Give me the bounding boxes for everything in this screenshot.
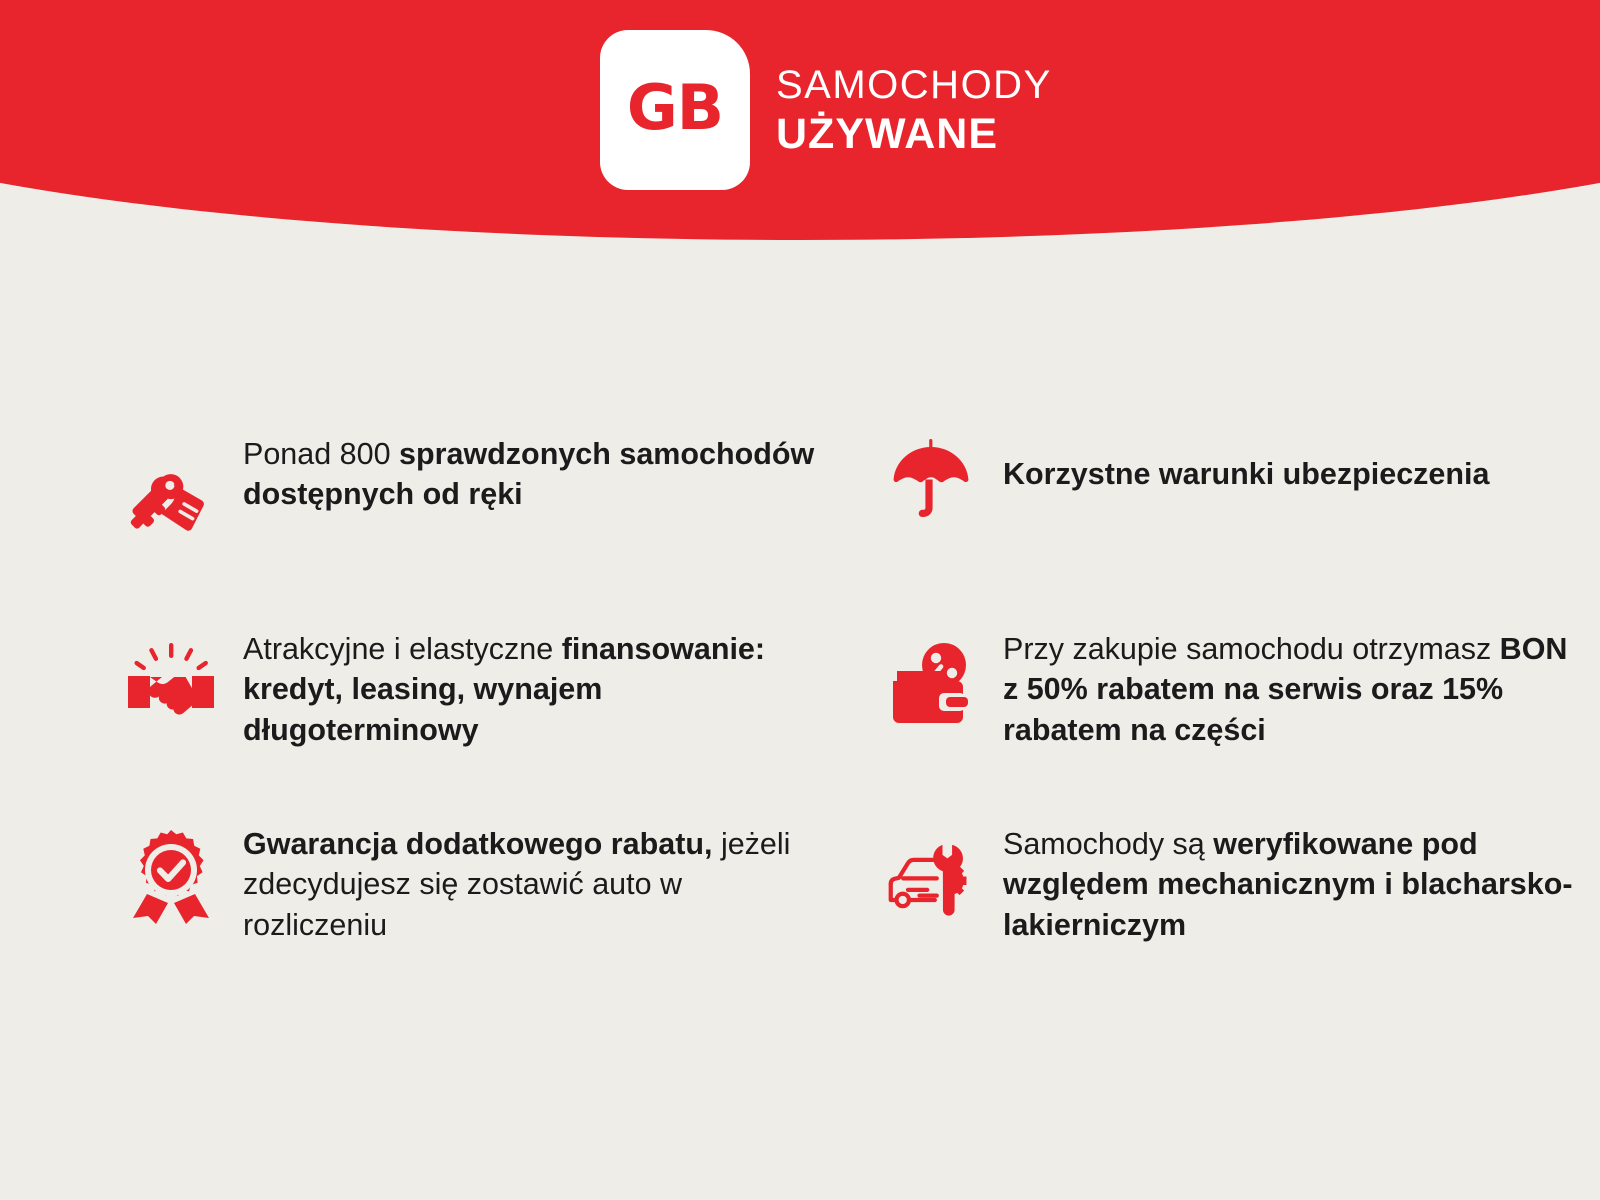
feature-text-insurance: Korzystne warunki ubezpieczenia <box>1003 430 1489 494</box>
wallet-percent-icon <box>885 637 977 733</box>
feature-item-cars-available: Ponad 800 sprawdzonych samochodów dostęp… <box>125 430 845 625</box>
feature-item-financing: Atrakcyjne i elastyczne finansowanie: kr… <box>125 625 845 820</box>
award-badge-check-icon <box>125 828 217 924</box>
feature-text-guarantee: Gwarancja dodatkowego rabatu, jeżeli zde… <box>243 820 823 945</box>
feature-strong-text: Gwarancja dodatkowego rabatu, <box>243 827 712 861</box>
feature-item-guarantee: Gwarancja dodatkowego rabatu, jeżeli zde… <box>125 820 845 1015</box>
brand-line-uzywane: UŻYWANE <box>776 113 1052 156</box>
feature-lead-text: Ponad 800 <box>243 437 399 471</box>
feature-lead-text: Samochody są <box>1003 827 1213 861</box>
logo-mark-text: GB <box>627 77 723 139</box>
feature-text-verification: Samochody są weryfikowane pod względem m… <box>1003 820 1583 945</box>
brand-wordmark: SAMOCHODY UŻYWANE <box>776 65 1052 156</box>
feature-text-financing: Atrakcyjne i elastyczne finansowanie: kr… <box>243 625 823 750</box>
car-key-with-tag-icon <box>125 454 217 550</box>
feature-item-voucher: Przy zakupie samochodu otrzymasz BON z 5… <box>885 625 1585 820</box>
handshake-icon <box>125 635 217 731</box>
feature-lead-text: Przy zakupie samochodu otrzymasz <box>1003 632 1500 666</box>
feature-lead-text: Atrakcyjne i elastyczne <box>243 632 562 666</box>
umbrella-icon <box>885 432 977 528</box>
feature-item-insurance: Korzystne warunki ubezpieczenia <box>885 430 1585 625</box>
feature-text-cars-available: Ponad 800 sprawdzonych samochodów dostęp… <box>243 430 823 515</box>
feature-text-voucher: Przy zakupie samochodu otrzymasz BON z 5… <box>1003 625 1583 750</box>
features-grid: Ponad 800 sprawdzonych samochodów dostęp… <box>0 430 1600 1015</box>
car-wrench-gear-icon <box>885 828 977 924</box>
feature-strong-text: Korzystne warunki ubezpieczenia <box>1003 457 1489 491</box>
brand-line-samochody: SAMOCHODY <box>776 65 1052 105</box>
brand-logo-lockup[interactable]: GB SAMOCHODY UŻYWANE <box>600 30 1052 190</box>
header-banner: GB SAMOCHODY UŻYWANE <box>0 0 1600 240</box>
gb-logo-mark: GB <box>600 30 750 190</box>
feature-item-verification: Samochody są weryfikowane pod względem m… <box>885 820 1585 1015</box>
